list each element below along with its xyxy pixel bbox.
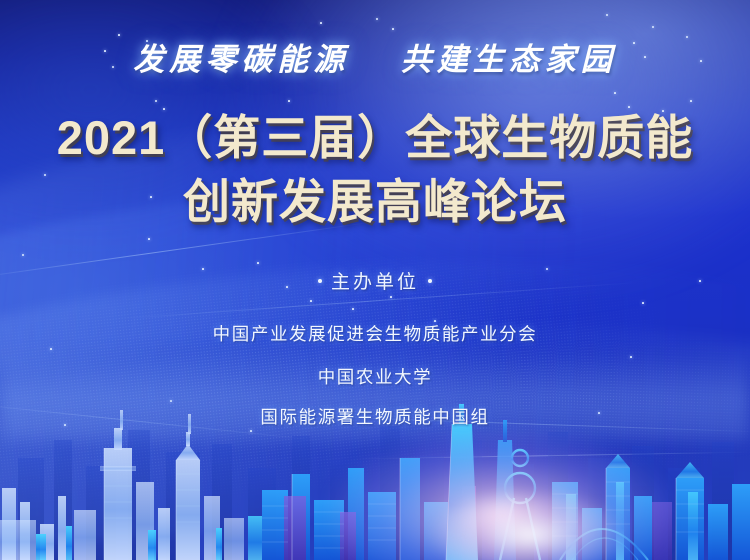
tagline-part-2: 共建生态家园: [401, 42, 617, 78]
organizer-heading-label: 主办单位: [331, 272, 419, 293]
organizer-item: 中国产业发展促进会生物质能产业分会: [0, 321, 750, 346]
organizer-item: 中国农业大学: [0, 364, 750, 389]
organizer-heading: 主办单位: [0, 267, 750, 294]
bullet-dot-right: [428, 279, 432, 283]
tagline-part-1: 发展零碳能源: [133, 42, 349, 78]
poster-title-line-2: 创新发展高峰论坛: [0, 178, 750, 225]
conference-poster: 发展零碳能源 共建生态家园 2021（第三届）全球生物质能 创新发展高峰论坛 主…: [0, 0, 750, 560]
poster-tagline: 发展零碳能源 共建生态家园: [0, 34, 750, 79]
bullet-dot-left: [318, 279, 322, 283]
poster-content: 发展零碳能源 共建生态家园 2021（第三届）全球生物质能 创新发展高峰论坛 主…: [0, 0, 750, 560]
organizer-item: 国际能源署生物质能中国组: [0, 404, 750, 429]
poster-title-line-1: 2021（第三届）全球生物质能: [0, 114, 750, 161]
